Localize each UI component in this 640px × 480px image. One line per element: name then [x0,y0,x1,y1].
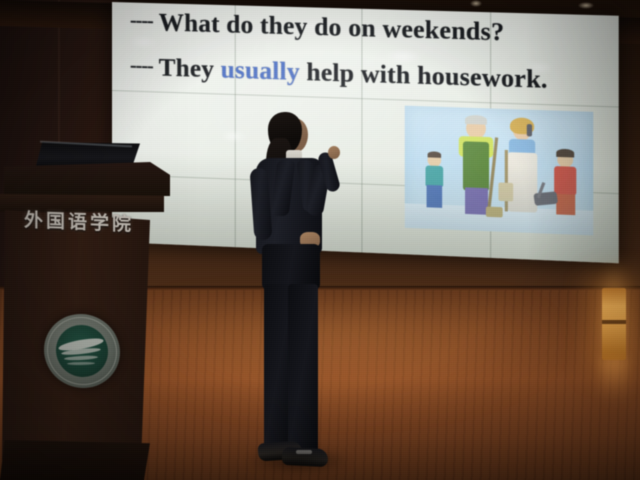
podium-label: 外国语学院 [24,205,164,237]
slide-dash: ---- [130,55,153,78]
sconce-floor-reflection [600,358,628,404]
presenter [244,112,364,474]
slide-illustration [405,106,593,236]
podium-base [0,440,150,480]
slide-dash: ---- [130,9,153,32]
ceiling-light-icon [470,0,482,7]
slide-keyword-usually: usually [221,56,300,86]
illustration-softening [405,106,593,236]
projection-screen: ---- What do they do on weekends? ---- T… [112,2,619,263]
ceiling-light-icon [578,2,594,9]
presenter-leg-right [288,284,318,456]
wall-sconce-light [602,288,626,360]
podium: 外国语学院 [0,162,176,480]
presenter-floor-shadow [246,448,350,474]
presenter-hand-raised [328,146,340,159]
podium-top-surface [4,162,170,196]
slide-line-2-before: They [159,54,221,83]
sconce-band [602,320,626,324]
lecture-photo-scene: ---- What do they do on weekends? ---- T… [0,0,640,480]
screen-seam [235,5,236,247]
